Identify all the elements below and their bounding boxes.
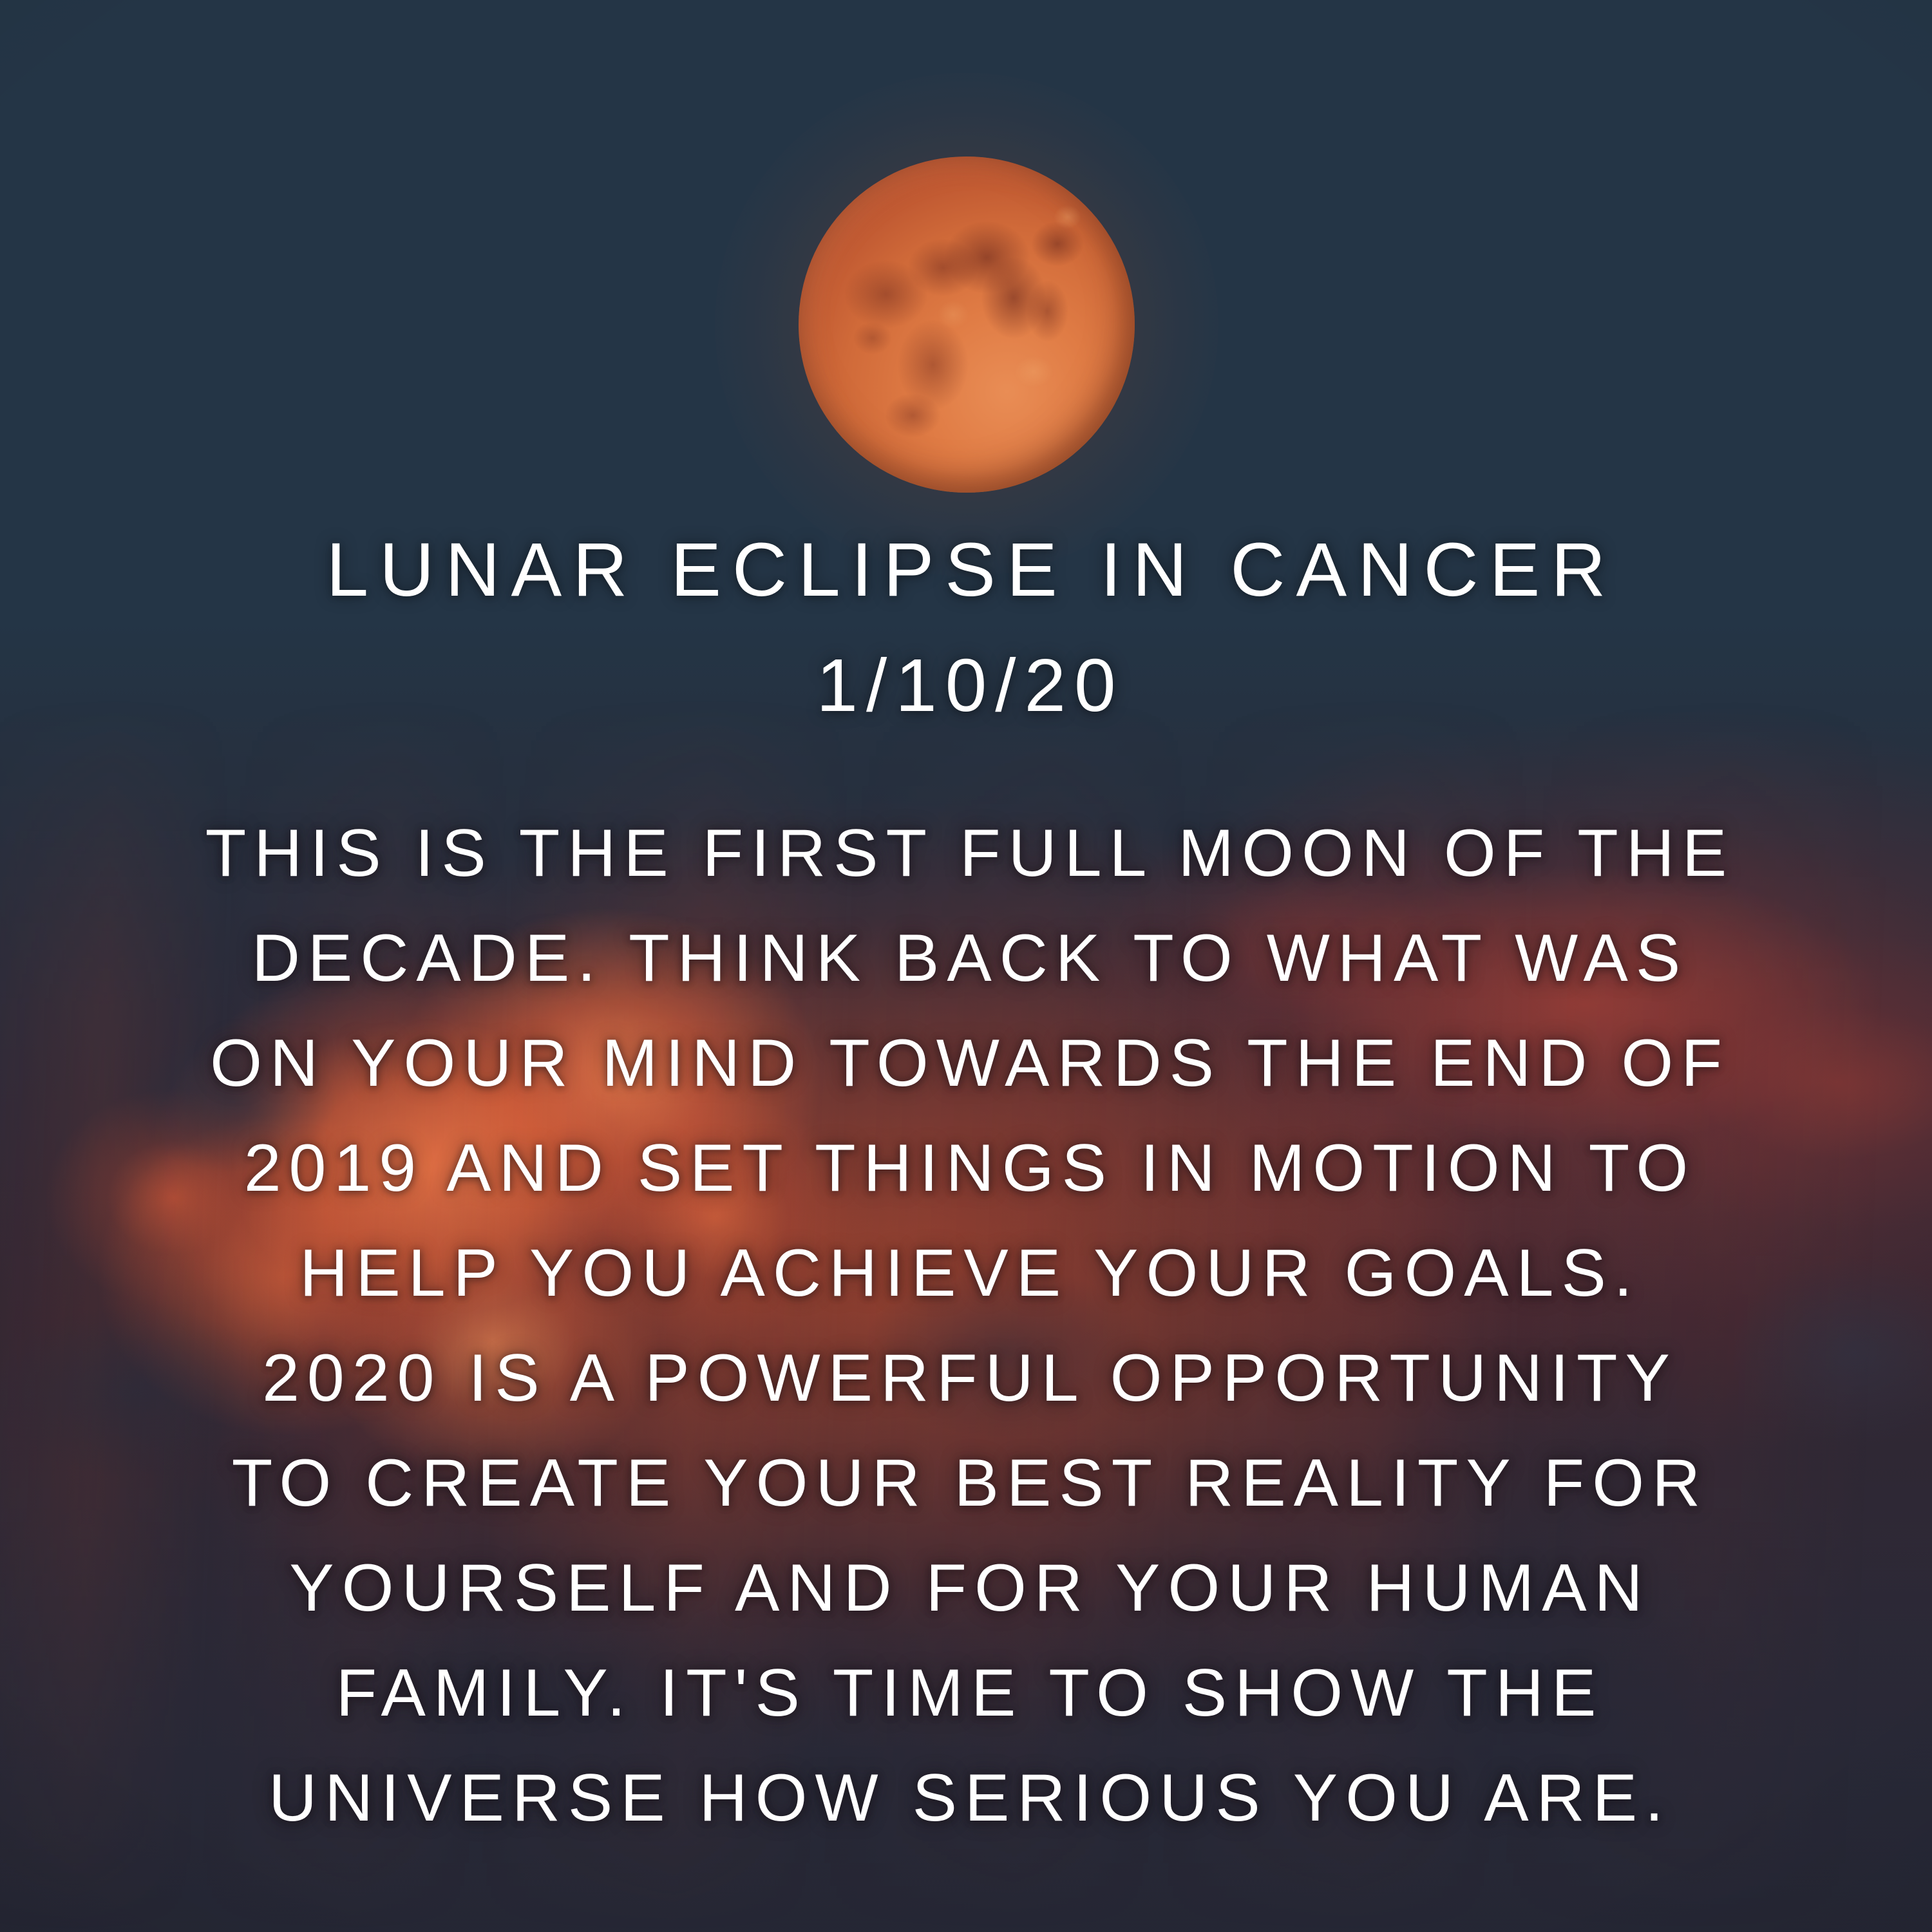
event-date: 1/10/20 [0, 648, 1932, 723]
body-line: ON YOUR MIND TOWARDS THE END OF [0, 1011, 1932, 1116]
poster-content: LUNAR ECLIPSE IN CANCER 1/10/20 THIS IS … [0, 0, 1932, 1932]
body-line: 2019 AND SET THINGS IN MOTION TO [0, 1116, 1932, 1221]
page-title: LUNAR ECLIPSE IN CANCER [0, 532, 1932, 608]
body-line: FAMILY. IT'S TIME TO SHOW THE [0, 1641, 1932, 1746]
body-line: DECADE. THINK BACK TO WHAT WAS [0, 906, 1932, 1011]
body-line: TO CREATE YOUR BEST REALITY FOR [0, 1431, 1932, 1536]
body-line: HELP YOU ACHIEVE YOUR GOALS. [0, 1221, 1932, 1326]
body-line: UNIVERSE HOW SERIOUS YOU ARE. [0, 1746, 1932, 1851]
body-line: 2020 IS A POWERFUL OPPORTUNITY [0, 1326, 1932, 1431]
lunar-eclipse-poster: LUNAR ECLIPSE IN CANCER 1/10/20 THIS IS … [0, 0, 1932, 1932]
body-line: THIS IS THE FIRST FULL MOON OF THE [0, 801, 1932, 906]
body-copy: THIS IS THE FIRST FULL MOON OF THE DECAD… [0, 801, 1932, 1851]
body-line: YOURSELF AND FOR YOUR HUMAN [0, 1536, 1932, 1641]
